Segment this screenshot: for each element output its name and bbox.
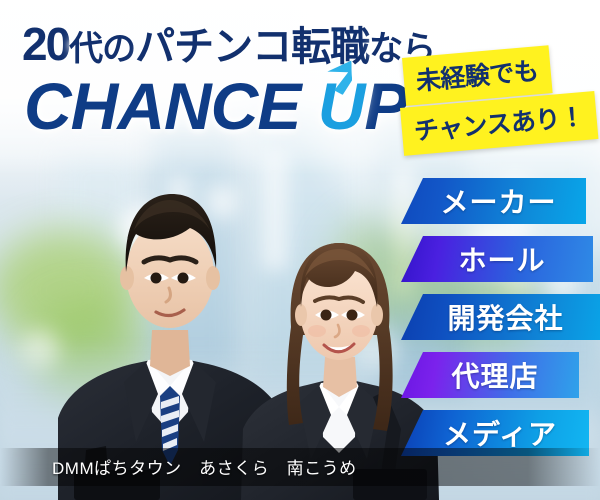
headline-text: 20代のパチンコ転職なら (22, 14, 435, 72)
logo-letter-u-text: U (318, 69, 365, 143)
promo-banner: 20代のパチンコ転職なら CHANCE U P 未経験でも チャンスあり！ メー… (0, 0, 600, 500)
credit-text: DMMぱちタウン あさくら 南こうめ (0, 454, 600, 479)
category-item-hall[interactable]: ホール (401, 236, 593, 282)
category-item-developer[interactable]: 開発会社 (401, 294, 600, 340)
logo-word-chance: CHANCE (24, 69, 300, 143)
category-label: 開発会社 (401, 297, 600, 337)
category-list: メーカー ホール 開発会社 代理店 メディア (401, 178, 600, 468)
credit-bar: DMMぱちタウン あさくら 南こうめ (0, 448, 600, 486)
brand-logo: CHANCE U P (24, 68, 407, 144)
category-item-agency[interactable]: 代理店 (401, 352, 579, 398)
headline-suffix: 代の (69, 30, 135, 68)
category-label: ホール (401, 239, 593, 279)
logo-letter-p: P (364, 69, 407, 143)
category-item-maker[interactable]: メーカー (401, 178, 586, 224)
headline-number: 20 (22, 18, 69, 70)
headline-middle: パチンコ転職 (135, 25, 369, 69)
category-label: メーカー (401, 181, 586, 221)
category-label: 代理店 (401, 355, 579, 395)
category-label: メディア (401, 413, 589, 453)
logo-letter-u: U (318, 68, 365, 144)
